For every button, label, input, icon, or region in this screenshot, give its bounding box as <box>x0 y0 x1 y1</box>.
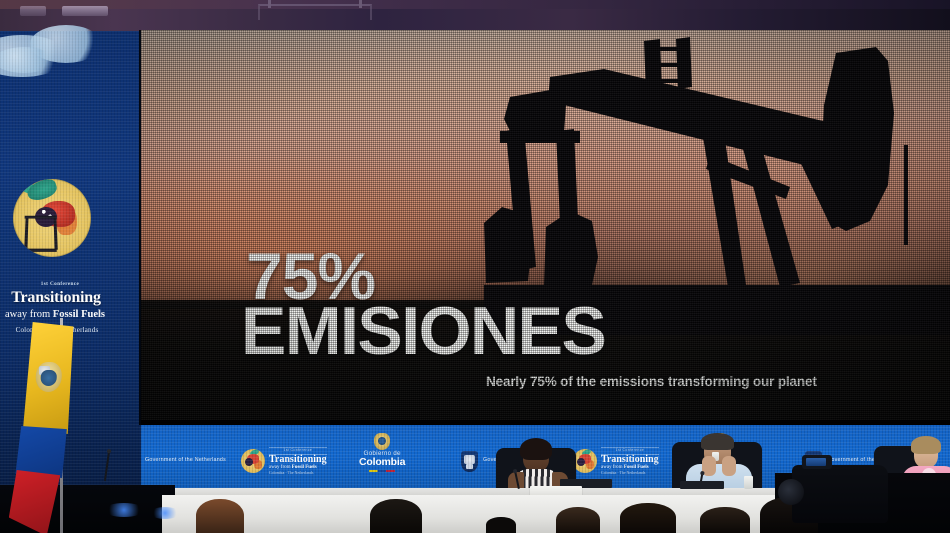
audience-head <box>620 503 676 533</box>
ceiling-lamp-icon <box>20 6 46 16</box>
cloud-graphic <box>0 47 54 73</box>
stage-blue-light <box>104 503 144 517</box>
laptop-icon <box>680 481 724 489</box>
backdrop-logo-countries: Colombia · The Netherlands <box>269 471 327 475</box>
audience-head <box>700 507 750 533</box>
banner-conference-label: 1st Conference <box>0 281 120 287</box>
audience-head <box>370 499 422 533</box>
backdrop-logo-transitioning: 1st Conference Transitioning away from F… <box>241 439 327 483</box>
backdrop-logo-countries: Colombia · The Netherlands <box>601 471 659 475</box>
ceiling-light-strip <box>0 0 950 9</box>
backdrop-logo-subtitle: away from Fossil Fuels <box>601 465 659 470</box>
ceiling-lamp-icon <box>62 6 108 16</box>
stage-blue-light <box>150 507 180 519</box>
lighting-truss <box>258 4 372 20</box>
photo-scene: 1st Conference Transitioning away from F… <box>0 0 950 533</box>
backdrop-logo-netherlands: Government of the Netherlands <box>141 439 226 483</box>
audience-head <box>486 517 516 533</box>
backdrop-logo-toplabel: 1st Conference <box>601 447 659 455</box>
colombia-flag-bar-icon <box>369 470 395 473</box>
led-caption: Nearly 75% of the emissions transforming… <box>486 374 817 389</box>
cup-icon <box>744 476 753 489</box>
backdrop-logo-label: Government of the Netherlands <box>145 457 226 464</box>
cloud-graphic <box>30 25 102 63</box>
netherlands-crest-icon <box>461 451 478 472</box>
colombia-logo-line1: Gobierno de <box>363 451 400 457</box>
conference-emblem-icon <box>241 449 265 473</box>
backdrop-logo-toplabel: 1st Conference <box>269 447 327 455</box>
cloud-graphic <box>0 35 68 77</box>
led-video-wall: 75% EMISIONES Nearly 75% of the emission… <box>141 30 950 425</box>
subtitle-bold: Fossil Fuels <box>624 465 649 470</box>
venue-ceiling <box>0 0 950 31</box>
broadcast-camera-icon <box>792 465 888 523</box>
conference-emblem-icon <box>13 179 91 257</box>
banner-subtitle-plain: away from <box>5 309 53 320</box>
colombia-logo-line2: Colombia <box>359 457 405 468</box>
colombia-coat-of-arms-icon <box>374 433 390 450</box>
colombia-flag-icon <box>10 322 75 532</box>
backdrop-logo-colombia: Gobierno de Colombia <box>359 433 405 477</box>
subtitle-bold: Fossil Fuels <box>292 465 317 470</box>
backdrop-logo-title: Transitioning <box>601 455 659 466</box>
led-headline-word: EMISIONES <box>241 298 605 365</box>
backdrop-logo-title: Transitioning <box>269 455 327 466</box>
audience-head <box>196 499 244 533</box>
backdrop-logo-subtitle: away from Fossil Fuels <box>269 465 327 470</box>
subtitle-plain: away from <box>269 465 292 470</box>
banner-title: Transitioning <box>0 289 120 307</box>
audience-head <box>556 507 600 533</box>
subtitle-plain: away from <box>601 465 624 470</box>
